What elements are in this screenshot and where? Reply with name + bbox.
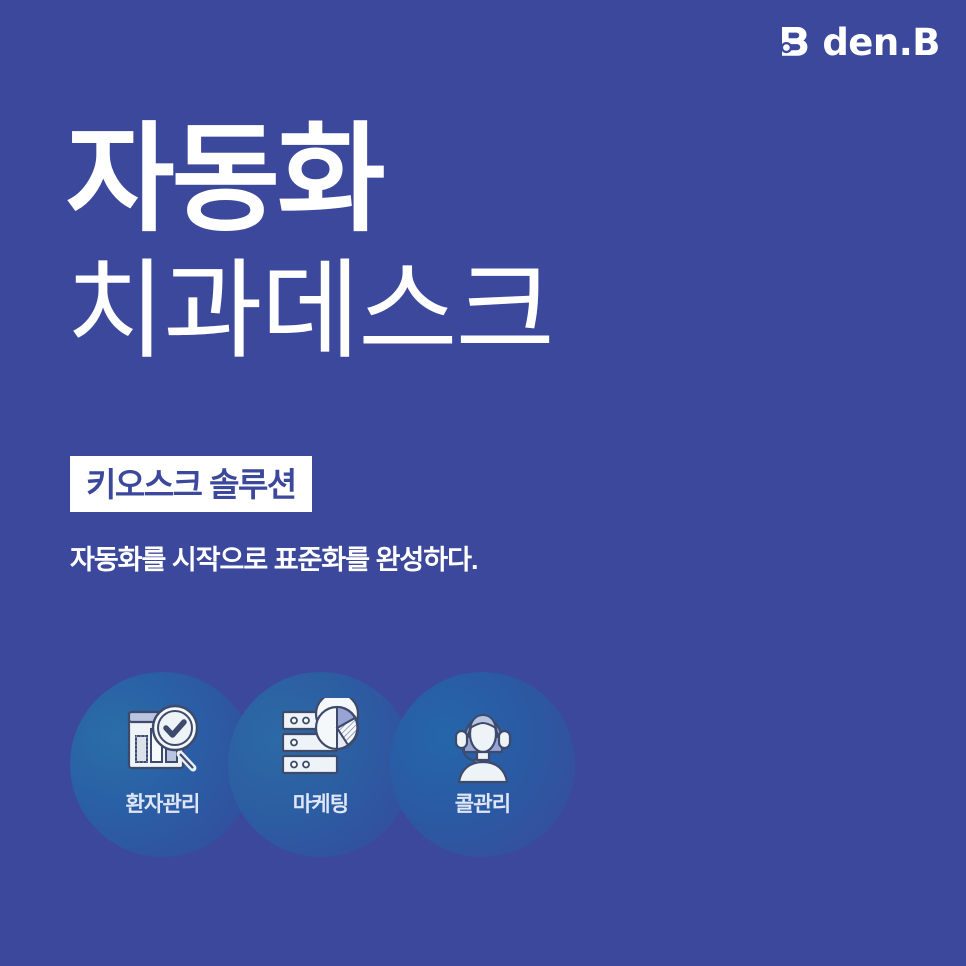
brand-logo[interactable]: den.B bbox=[779, 20, 940, 64]
headline: 자동화 치과데스크 bbox=[66, 118, 826, 372]
headline-line-2: 치과데스크 bbox=[66, 251, 826, 372]
feature-list: 환자관리 bbox=[70, 672, 590, 872]
tagline: 자동화를 시작으로 표준화를 완성하다. bbox=[70, 538, 477, 577]
headline-line-1: 자동화 bbox=[66, 118, 826, 243]
solution-badge-label: 키오스크 솔루션 bbox=[86, 468, 296, 501]
server-stack-pie-chart-icon bbox=[275, 698, 367, 784]
feature-label-marketing: 마케팅 bbox=[228, 794, 413, 815]
feature-item-call-management[interactable]: 콜관리 bbox=[390, 672, 575, 857]
solution-badge: 키오스크 솔루션 bbox=[70, 456, 312, 512]
promo-poster: den.B 자동화 치과데스크 키오스크 솔루션 자동화를 시작으로 표준화를 … bbox=[0, 0, 966, 966]
brand-wordmark: den.B bbox=[822, 24, 940, 61]
feature-item-marketing[interactable]: 마케팅 bbox=[228, 672, 413, 857]
chart-document-magnifier-check-icon bbox=[117, 698, 209, 784]
headset-agent-icon bbox=[437, 698, 529, 784]
feature-label-call-management: 콜관리 bbox=[390, 794, 575, 815]
den-b-logo-icon bbox=[779, 25, 813, 59]
